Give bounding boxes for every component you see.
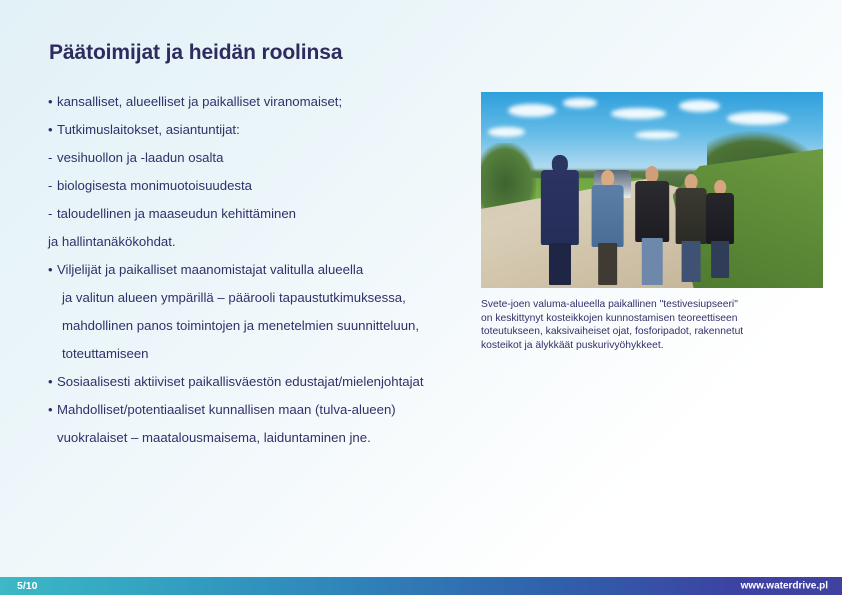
person-figure: [536, 155, 584, 284]
caption-line: Svete-joen valuma-alueella paikallinen "…: [481, 298, 829, 312]
person-legs: [712, 241, 730, 278]
list-item: -taloudellinen ja maaseudun kehittäminen: [48, 200, 468, 228]
photo-caption: Svete-joen valuma-alueella paikallinen "…: [481, 298, 829, 352]
bullet-marker: •: [48, 368, 57, 396]
person-torso: [706, 193, 734, 244]
person-torso: [541, 170, 579, 245]
slide-canvas: Päätoimijat ja heidän roolinsa •kansalli…: [0, 0, 842, 595]
website-url[interactable]: www.waterdrive.pl: [741, 581, 828, 592]
cloud-shape: [727, 112, 789, 126]
list-item-text: biologisesta monimuotoisuudesta: [57, 178, 252, 193]
person-legs: [682, 241, 701, 282]
list-item-text: Mahdolliset/potentiaaliset kunnallisen m…: [57, 402, 396, 417]
photo-illustration: [481, 92, 823, 288]
list-item: -biologisesta monimuotoisuudesta: [48, 172, 468, 200]
page-number: 5/10: [17, 580, 37, 592]
list-item: ja hallintanäkökohdat.: [48, 228, 468, 256]
caption-line: toteutukseen, kaksivaiheiset ojat, fosfo…: [481, 325, 829, 339]
list-item: -vesihuollon ja -laadun osalta: [48, 144, 468, 172]
list-item-text: Tutkimuslaitokset, asiantuntijat:: [57, 122, 240, 137]
person-torso: [676, 188, 707, 244]
list-item-text: toteuttamiseen: [62, 346, 149, 361]
list-item: ja valitun alueen ympärillä – päärooli t…: [48, 284, 468, 312]
dash-marker: -: [48, 144, 57, 172]
list-item-text: Viljelijät ja paikalliset maanomistajat …: [57, 262, 363, 277]
list-item-text: vuokralaiset – maatalousmaisema, laidunt…: [57, 430, 371, 445]
caption-line: on keskittynyt kosteikkojen kunnostamise…: [481, 312, 829, 326]
slide-footer: 5/10 www.waterdrive.pl: [0, 577, 842, 595]
person-figure: [631, 166, 672, 284]
person-legs: [642, 238, 663, 285]
person-legs: [549, 243, 571, 286]
page-title: Päätoimijat ja heidän roolinsa: [49, 41, 342, 65]
roadside-bush: [481, 143, 536, 210]
list-item: vuokralaiset – maatalousmaisema, laidunt…: [48, 424, 468, 452]
list-item: •kansalliset, alueelliset ja paikalliset…: [48, 88, 468, 116]
person-figure: [703, 180, 737, 278]
list-item-text: Sosiaalisesti aktiiviset paikallisväestö…: [57, 374, 424, 389]
list-item-text: ja valitun alueen ympärillä – päärooli t…: [62, 290, 406, 305]
list-item-text: taloudellinen ja maaseudun kehittäminen: [57, 206, 296, 221]
cloud-shape: [635, 131, 679, 139]
bullet-marker: •: [48, 256, 57, 284]
list-item: •Sosiaalisesti aktiiviset paikallisväest…: [48, 368, 468, 396]
person-legs: [598, 243, 618, 285]
list-item-text: ja hallintanäkökohdat.: [48, 234, 176, 249]
cloud-shape: [563, 98, 597, 108]
field-visit-photo: [481, 92, 823, 288]
bullet-marker: •: [48, 396, 57, 424]
list-item-text: kansalliset, alueelliset ja paikalliset …: [57, 94, 342, 109]
person-torso: [591, 185, 624, 246]
caption-line: kosteikot ja älykkäät puskurivyöhykkeet.: [481, 339, 829, 353]
bullet-marker: •: [48, 88, 57, 116]
bullet-marker: •: [48, 116, 57, 144]
list-item-text: vesihuollon ja -laadun osalta: [57, 150, 223, 165]
list-item: toteuttamiseen: [48, 340, 468, 368]
dash-marker: -: [48, 172, 57, 200]
list-item: mahdollinen panos toimintojen ja menetel…: [48, 312, 468, 340]
list-item: •Mahdolliset/potentiaaliset kunnallisen …: [48, 396, 468, 424]
list-item: •Tutkimuslaitokset, asiantuntijat:: [48, 116, 468, 144]
content-bullet-list: •kansalliset, alueelliset ja paikalliset…: [48, 88, 468, 452]
cloud-shape: [679, 100, 720, 112]
person-torso: [635, 181, 669, 242]
dash-marker: -: [48, 200, 57, 228]
list-item-text: mahdollinen panos toimintojen ja menetel…: [62, 318, 419, 333]
list-item: •Viljelijät ja paikalliset maanomistajat…: [48, 256, 468, 284]
person-figure: [587, 170, 628, 284]
